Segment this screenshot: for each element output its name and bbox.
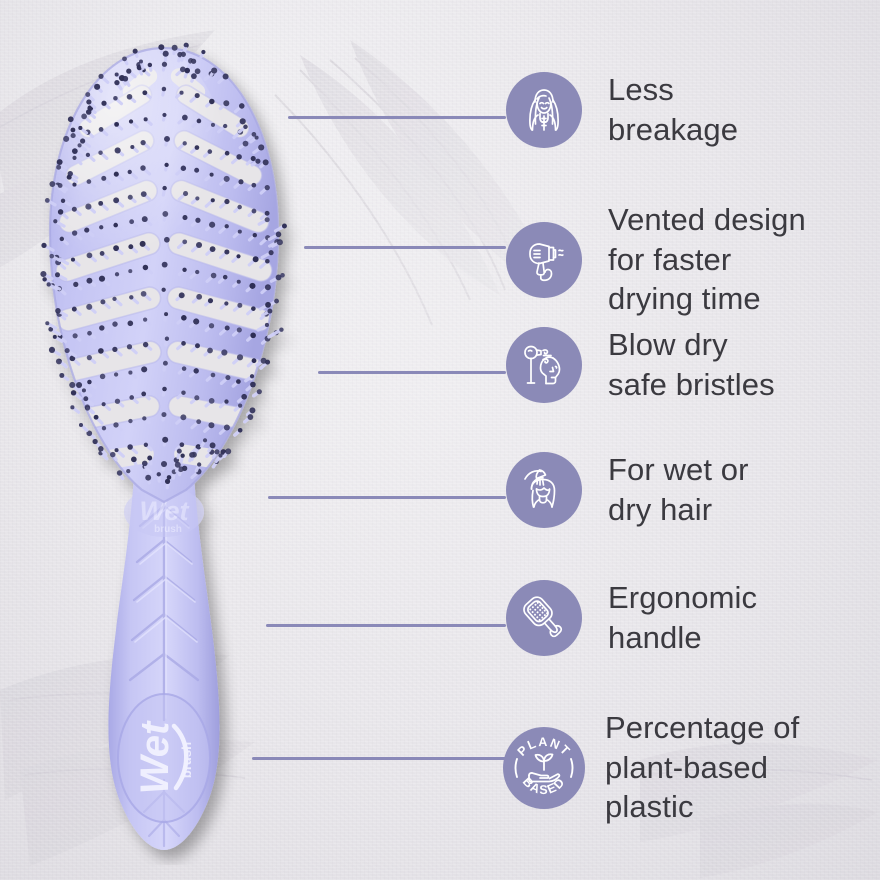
badge-top-text: PLANT (515, 734, 574, 758)
feature-label-6: Percentage of plant-based plastic (605, 708, 799, 827)
svg-text:brush: brush (154, 524, 182, 535)
blow-dry-profile-icon (517, 338, 571, 392)
paddle-brush-icon (517, 591, 571, 645)
svg-text:brush: brush (179, 742, 194, 778)
feature-label-2: Vented design for faster drying time (608, 200, 806, 319)
hair-dryer-icon (518, 234, 570, 286)
feature-plant-based-plastic: PLANT BASED Percentage of plant-based pl… (503, 708, 799, 827)
showerhead-head-icon (517, 463, 571, 517)
connector-line-1 (288, 116, 506, 119)
feature-label-1: Less breakage (608, 70, 738, 149)
feature-label-5: Ergonomic handle (608, 578, 757, 657)
plant-based-badge-icon: PLANT BASED (503, 727, 585, 809)
feature-wet-or-dry-hair: For wet or dry hair (506, 450, 749, 529)
feature-icon-bubble-1 (506, 72, 582, 148)
feature-icon-bubble-3 (506, 327, 582, 403)
connector-line-2 (304, 246, 506, 249)
feature-icon-bubble-4 (506, 452, 582, 528)
woman-long-hair-icon (518, 84, 570, 136)
feature-vented-design: Vented design for faster drying time (506, 200, 806, 319)
infographic-canvas: Wet brush Wet brush (0, 0, 880, 880)
feature-ergonomic-handle: Ergonomic handle (506, 578, 757, 657)
connector-line-3 (318, 371, 506, 374)
feature-icon-bubble-6: PLANT BASED (503, 727, 585, 809)
feature-less-breakage: Less breakage (506, 70, 738, 149)
feature-icon-bubble-5 (506, 580, 582, 656)
feature-label-3: Blow dry safe bristles (608, 325, 775, 404)
feature-icon-bubble-2 (506, 222, 582, 298)
feature-label-4: For wet or dry hair (608, 450, 749, 529)
svg-text:Wet: Wet (133, 720, 177, 794)
feature-blow-dry-safe: Blow dry safe bristles (506, 325, 775, 404)
wet-brush-product-image: Wet brush Wet brush (16, 20, 316, 865)
